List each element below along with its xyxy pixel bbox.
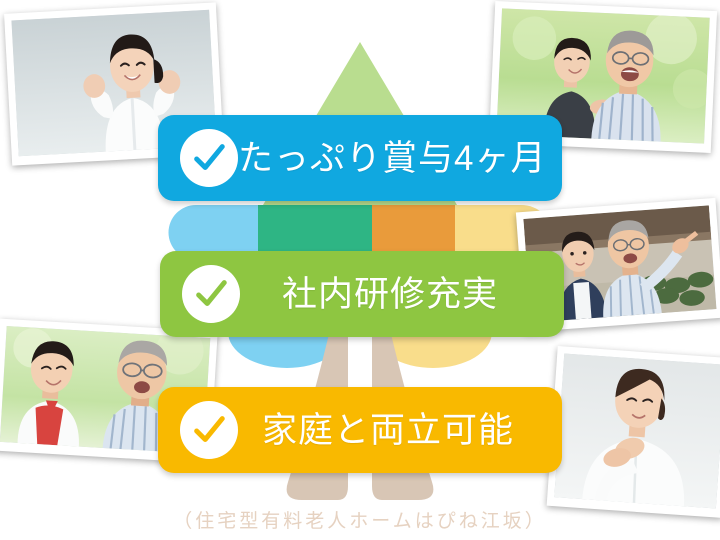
facility-caption: （住宅型有料老人ホームはぴね江坂） — [0, 511, 720, 534]
poster-canvas: たっぷり賞与4ヶ月 社内研修充実 家庭と両立可能 （住宅型有料老人ホームはぴね江… — [0, 0, 720, 540]
check-circle-icon — [180, 401, 238, 459]
photo-image — [554, 354, 720, 509]
photo-staff-hand-on-chest — [547, 346, 720, 518]
feature-banner-label: たっぷり賞与4ヶ月 — [238, 141, 570, 176]
feature-banner-label: 社内研修充実 — [240, 277, 564, 312]
check-circle-icon — [180, 129, 238, 187]
check-circle-icon — [182, 265, 240, 323]
feature-banner-family[interactable]: 家庭と両立可能 — [158, 387, 562, 473]
feature-banner-bonus[interactable]: たっぷり賞与4ヶ月 — [158, 115, 562, 201]
feature-banner-training[interactable]: 社内研修充実 — [160, 251, 564, 337]
feature-banner-label: 家庭と両立可能 — [238, 413, 562, 448]
